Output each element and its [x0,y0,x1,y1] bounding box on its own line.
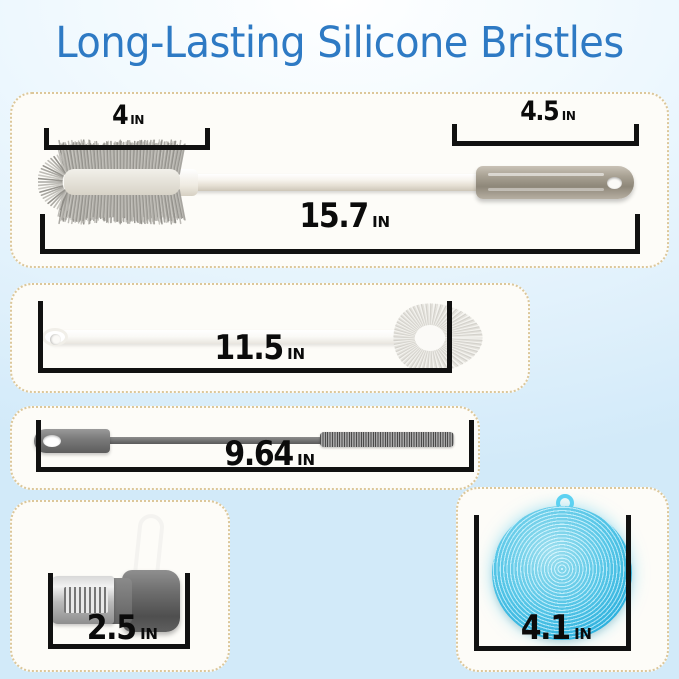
dimension-label-9p64in: 9.64 IN [170,434,360,472]
dim-cap-left [38,301,43,373]
page-title: Long-Lasting Silicone Bristles [24,18,655,68]
hang-hole [607,177,622,189]
dimension-label-11p5in: 11.5 IN [170,328,340,368]
dimension-head-width [44,128,210,150]
dimension-label-2p5in: 2.5 IN [52,608,186,646]
dim-bar [40,249,640,254]
brush-shaft [186,174,486,191]
dimension-label-15p7in: 15.7 IN [230,196,450,236]
dim-cap-left [452,124,457,146]
dim-cap-right [634,124,639,146]
dimension-label-4p1in: 4.1 IN [478,608,628,646]
brush-grip [476,166,634,199]
dim-cap-right [205,128,210,150]
infographic-canvas: Long-Lasting Silicone Bristles [0,0,679,679]
dim-bar [38,368,452,373]
dim-bar [44,145,210,150]
dim-cap-right [447,301,452,373]
dim-cap-right [469,420,474,472]
dimension-grip-length [452,124,639,146]
dim-bar [452,141,639,146]
dim-cap-right [635,214,640,254]
dim-cap-left [40,214,45,254]
dim-cap-left [44,128,49,150]
dimension-label-4in: 4 IN [44,100,210,130]
dimension-label-4p5in: 4.5 IN [452,96,639,126]
dim-cap-left [36,420,41,472]
brush-core [64,169,180,195]
